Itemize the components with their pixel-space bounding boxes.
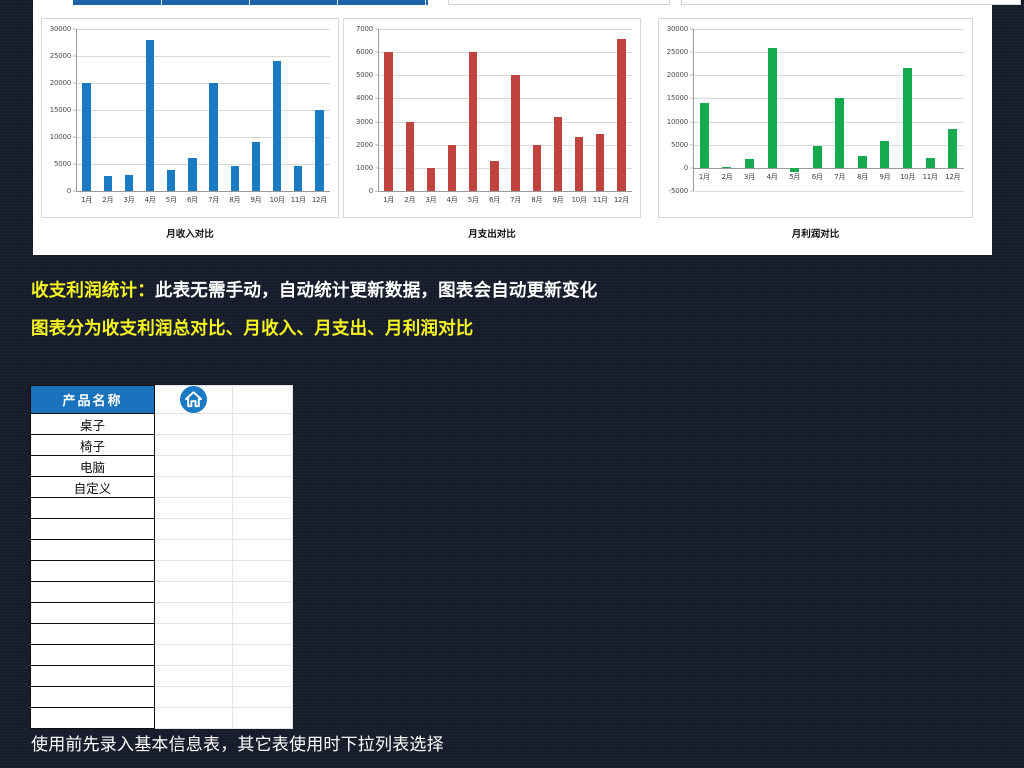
product-col-c-cell[interactable] — [233, 435, 293, 456]
chart-x-axis-label: 5月 — [463, 195, 484, 205]
product-col-b-cell[interactable] — [155, 708, 233, 729]
clipped-top-panel — [33, 0, 992, 10]
product-name-cell[interactable]: 自定义 — [31, 477, 155, 498]
clipped-bar-divider — [337, 0, 338, 5]
chart-bar[interactable] — [427, 168, 435, 191]
chart-y-axis-label: -5000 — [669, 187, 688, 195]
chart-bar[interactable] — [490, 161, 498, 191]
chart-bar[interactable] — [104, 176, 112, 191]
chart-title-expense: 月支出对比 — [343, 226, 641, 240]
chart-y-axis-label: 0 — [684, 164, 688, 172]
chart-x-axis-label: 7月 — [203, 195, 224, 205]
chart-bar[interactable] — [533, 145, 541, 191]
table-row[interactable] — [31, 687, 293, 708]
chart-bar[interactable] — [448, 145, 456, 191]
product-col-c-cell[interactable] — [233, 477, 293, 498]
chart-gridline — [693, 98, 964, 99]
chart-x-axis-label: 9月 — [874, 172, 897, 182]
chart-gridline — [378, 29, 632, 30]
chart-monthly-income[interactable]: 0500010000150002000025000300001月2月3月4月5月… — [41, 18, 339, 218]
chart-plot-area: 010002000300040005000600070001月2月3月4月5月6… — [344, 19, 640, 217]
table-row[interactable] — [31, 708, 293, 729]
chart-y-axis-label: 6000 — [356, 48, 373, 56]
chart-gridline — [76, 110, 330, 111]
chart-gridline — [378, 168, 632, 169]
chart-y-axis-label: 25000 — [667, 48, 688, 56]
chart-x-axis-label: 5月 — [783, 172, 806, 182]
chart-x-axis-label: 1月 — [693, 172, 716, 182]
note-line-3: 使用前先录入基本信息表，其它表使用时下拉列表选择 — [31, 730, 444, 755]
chart-x-axis-label: 6月 — [484, 195, 505, 205]
chart-monthly-expense[interactable]: 010002000300040005000600070001月2月3月4月5月6… — [343, 18, 641, 218]
chart-y-axis-label: 4000 — [356, 94, 373, 102]
chart-y-axis-label: 15000 — [50, 106, 71, 114]
table-row[interactable] — [31, 519, 293, 540]
chart-monthly-profit[interactable]: -50000500010000150002000025000300001月2月3… — [658, 18, 973, 218]
chart-gridline — [378, 145, 632, 146]
product-col-b-cell[interactable] — [155, 645, 233, 666]
chart-y-axis-label: 7000 — [356, 25, 373, 33]
chart-x-axis-label: 9月 — [245, 195, 266, 205]
product-col-b-cell[interactable] — [155, 540, 233, 561]
chart-x-axis-label: 8月 — [526, 195, 547, 205]
chart-x-axis-label: 10月 — [896, 172, 919, 182]
note-line-1-rest: 此表无需手动，自动统计更新数据，图表会自动更新变化 — [155, 281, 598, 301]
product-col-c-cell[interactable] — [233, 414, 293, 435]
chart-x-axis-label: 12月 — [309, 195, 330, 205]
product-col-c-cell[interactable] — [233, 540, 293, 561]
product-col-b-cell[interactable] — [155, 435, 233, 456]
product-col-b-cell[interactable] — [155, 666, 233, 687]
product-col-c-cell[interactable] — [233, 456, 293, 477]
note-line-1: 收支利润统计：此表无需手动，自动统计更新数据，图表会自动更新变化 — [31, 277, 597, 302]
chart-bar[interactable] — [167, 170, 175, 191]
chart-bar[interactable] — [575, 137, 583, 191]
chart-gridline — [378, 98, 632, 99]
chart-gridline — [378, 52, 632, 53]
chart-y-axis-label: 30000 — [667, 25, 688, 33]
home-icon[interactable] — [180, 386, 207, 413]
chart-gridline — [693, 29, 964, 30]
clipped-panel-a — [448, 0, 670, 5]
clipped-blue-header-bar — [73, 0, 428, 5]
product-name-cell[interactable] — [31, 603, 155, 624]
chart-y-axis-label: 25000 — [50, 52, 71, 60]
chart-x-axis-label: 1月 — [378, 195, 399, 205]
product-name-cell[interactable] — [31, 708, 155, 729]
chart-y-axis-label: 0 — [369, 187, 373, 195]
chart-bar[interactable] — [188, 158, 196, 191]
chart-y-axis-label: 20000 — [50, 79, 71, 87]
home-button-cell[interactable] — [155, 386, 233, 414]
chart-y-axis-label: 20000 — [667, 71, 688, 79]
chart-y-axis — [693, 29, 694, 191]
product-col-b-cell[interactable] — [155, 498, 233, 519]
table-row[interactable] — [31, 498, 293, 519]
chart-x-axis-label: 7月 — [829, 172, 852, 182]
product-name-cell[interactable] — [31, 540, 155, 561]
product-name-cell[interactable] — [31, 519, 155, 540]
chart-y-axis-label: 10000 — [667, 118, 688, 126]
chart-plot-area: -50000500010000150002000025000300001月2月3… — [659, 19, 972, 217]
product-col-c-cell[interactable] — [233, 624, 293, 645]
clipped-bar-divider — [161, 0, 162, 5]
charts-panel: 0500010000150002000025000300001月2月3月4月5月… — [33, 10, 992, 255]
chart-y-axis-label: 15000 — [667, 94, 688, 102]
table-header-blank — [233, 386, 293, 414]
chart-bar[interactable] — [315, 110, 323, 191]
product-col-c-cell[interactable] — [233, 498, 293, 519]
chart-x-axis-label: 12月 — [611, 195, 632, 205]
table-row[interactable] — [31, 561, 293, 582]
product-col-b-cell[interactable] — [155, 414, 233, 435]
chart-bar[interactable] — [745, 159, 754, 168]
chart-bar[interactable] — [231, 166, 239, 191]
chart-bar[interactable] — [469, 52, 477, 191]
chart-y-axis-label: 5000 — [671, 141, 688, 149]
chart-gridline — [76, 164, 330, 165]
product-col-b-cell[interactable] — [155, 477, 233, 498]
chart-bar[interactable] — [596, 134, 604, 191]
chart-bar[interactable] — [768, 48, 777, 168]
table-row[interactable] — [31, 624, 293, 645]
product-col-c-cell[interactable] — [233, 582, 293, 603]
product-name-cell[interactable] — [31, 582, 155, 603]
chart-bar[interactable] — [858, 156, 867, 168]
chart-y-axis — [76, 29, 77, 191]
chart-x-axis-label: 6月 — [182, 195, 203, 205]
chart-bar[interactable] — [903, 68, 912, 168]
clipped-bar-divider — [249, 0, 250, 5]
chart-x-axis-label: 7月 — [505, 195, 526, 205]
chart-bar[interactable] — [511, 75, 519, 191]
chart-y-axis-label: 10000 — [50, 133, 71, 141]
chart-y-axis-label: 2000 — [356, 141, 373, 149]
chart-y-axis-label: 5000 — [54, 160, 71, 168]
note-line-2: 图表分为收支利润总对比、月收入、月支出、月利润对比 — [31, 315, 474, 340]
chart-y-axis-label: 0 — [67, 187, 71, 195]
chart-x-axis-label: 4月 — [442, 195, 463, 205]
product-col-b-cell[interactable] — [155, 624, 233, 645]
chart-bar[interactable] — [813, 146, 822, 168]
product-table[interactable]: 产品名称 桌子椅子电脑自定义 — [30, 385, 293, 729]
table-row[interactable]: 椅子 — [31, 435, 293, 456]
chart-gridline — [76, 137, 330, 138]
chart-title-income: 月收入对比 — [41, 226, 339, 240]
chart-plot-area: 0500010000150002000025000300001月2月3月4月5月… — [42, 19, 338, 217]
chart-x-axis-label: 1月 — [76, 195, 97, 205]
product-col-b-cell[interactable] — [155, 582, 233, 603]
table-header-product-name: 产品名称 — [31, 386, 155, 414]
chart-bar[interactable] — [700, 103, 709, 168]
table-row[interactable] — [31, 603, 293, 624]
table-row[interactable] — [31, 582, 293, 603]
chart-bar[interactable] — [273, 61, 281, 191]
chart-y-axis-label: 5000 — [356, 71, 373, 79]
product-col-c-cell[interactable] — [233, 687, 293, 708]
chart-bar[interactable] — [617, 39, 625, 191]
table-row[interactable]: 桌子 — [31, 414, 293, 435]
chart-gridline — [76, 29, 330, 30]
product-col-b-cell[interactable] — [155, 561, 233, 582]
clipped-panel-b — [681, 0, 1021, 5]
chart-bar[interactable] — [146, 40, 154, 191]
chart-x-axis-label: 9月 — [547, 195, 568, 205]
chart-x-axis-label: 11月 — [919, 172, 942, 182]
chart-gridline — [76, 56, 330, 57]
product-col-b-cell[interactable] — [155, 456, 233, 477]
chart-x-axis-label: 3月 — [420, 195, 441, 205]
product-col-b-cell[interactable] — [155, 519, 233, 540]
chart-x-axis-label: 11月 — [590, 195, 611, 205]
chart-gridline — [693, 145, 964, 146]
table-row[interactable]: 自定义 — [31, 477, 293, 498]
chart-y-axis-label: 3000 — [356, 118, 373, 126]
chart-x-axis-label: 2月 — [97, 195, 118, 205]
product-name-cell[interactable] — [31, 561, 155, 582]
chart-bar[interactable] — [554, 117, 562, 191]
chart-x-axis — [378, 191, 632, 192]
product-name-cell[interactable]: 椅子 — [31, 435, 155, 456]
chart-x-axis-label: 4月 — [761, 172, 784, 182]
chart-x-axis-label: 5月 — [161, 195, 182, 205]
chart-gridline — [378, 122, 632, 123]
chart-bar[interactable] — [125, 175, 133, 191]
table-row[interactable] — [31, 540, 293, 561]
table-row[interactable] — [31, 666, 293, 687]
chart-bar[interactable] — [880, 141, 889, 168]
chart-gridline — [693, 122, 964, 123]
chart-bar[interactable] — [209, 83, 217, 191]
chart-gridline — [378, 75, 632, 76]
product-name-cell[interactable] — [31, 687, 155, 708]
chart-y-axis-label: 1000 — [356, 164, 373, 172]
chart-x-axis-label: 3月 — [738, 172, 761, 182]
product-name-cell[interactable] — [31, 666, 155, 687]
chart-bar[interactable] — [926, 158, 935, 168]
product-name-cell[interactable] — [31, 498, 155, 519]
product-col-c-cell[interactable] — [233, 666, 293, 687]
product-col-c-cell[interactable] — [233, 519, 293, 540]
chart-x-axis-label: 2月 — [716, 172, 739, 182]
chart-y-axis — [378, 29, 379, 191]
chart-x-axis-label: 8月 — [224, 195, 245, 205]
table-body: 桌子椅子电脑自定义 — [31, 414, 293, 729]
chart-x-axis-label: 4月 — [140, 195, 161, 205]
product-name-cell[interactable] — [31, 645, 155, 666]
chart-x-axis — [76, 191, 330, 192]
product-col-b-cell[interactable] — [155, 687, 233, 708]
chart-bar[interactable] — [406, 122, 414, 191]
chart-x-axis-label: 8月 — [851, 172, 874, 182]
product-col-c-cell[interactable] — [233, 645, 293, 666]
product-col-c-cell[interactable] — [233, 603, 293, 624]
chart-y-axis-label: 30000 — [50, 25, 71, 33]
table-row[interactable]: 电脑 — [31, 456, 293, 477]
chart-title-profit: 月利润对比 — [658, 226, 973, 240]
chart-gridline — [76, 83, 330, 84]
chart-gridline — [693, 75, 964, 76]
chart-x-axis-label: 10月 — [569, 195, 590, 205]
product-name-cell[interactable] — [31, 624, 155, 645]
chart-x-axis-label: 12月 — [941, 172, 964, 182]
chart-gridline — [693, 191, 964, 192]
chart-bar[interactable] — [722, 167, 731, 168]
chart-x-axis-label: 10月 — [267, 195, 288, 205]
chart-x-axis-label: 11月 — [288, 195, 309, 205]
chart-bar[interactable] — [384, 52, 392, 191]
product-name-cell[interactable]: 桌子 — [31, 414, 155, 435]
chart-x-axis-label: 3月 — [118, 195, 139, 205]
chart-gridline — [693, 52, 964, 53]
note-line-1-highlight: 收支利润统计： — [31, 281, 155, 301]
product-col-c-cell[interactable] — [233, 708, 293, 729]
table-row[interactable] — [31, 645, 293, 666]
table-header-row: 产品名称 — [31, 386, 293, 414]
chart-bar[interactable] — [252, 142, 260, 191]
chart-x-axis-label: 6月 — [806, 172, 829, 182]
chart-bar[interactable] — [948, 129, 957, 168]
chart-x-axis — [693, 168, 964, 169]
clipped-bar-divider — [425, 0, 426, 5]
chart-bar[interactable] — [835, 98, 844, 167]
chart-x-axis-label: 2月 — [399, 195, 420, 205]
product-col-c-cell[interactable] — [233, 561, 293, 582]
product-name-cell[interactable]: 电脑 — [31, 456, 155, 477]
chart-bar[interactable] — [82, 83, 90, 191]
chart-bar[interactable] — [294, 166, 302, 191]
product-col-b-cell[interactable] — [155, 603, 233, 624]
